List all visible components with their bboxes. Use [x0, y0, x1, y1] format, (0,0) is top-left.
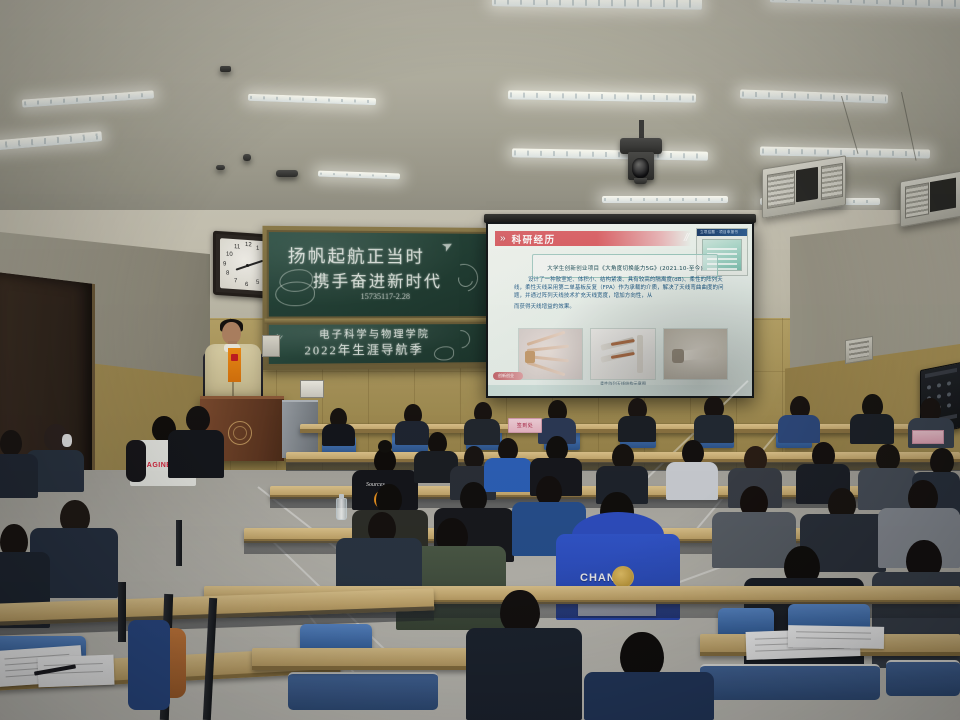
projector-base: [634, 178, 647, 184]
figure-antenna-structure-diagram: [590, 328, 655, 380]
ceiling-sensor: [243, 154, 251, 161]
projection-screen: » 科研经历 // 立项结题 · 项目申报书 大学生创新创业项目《大角度切换能力…: [486, 222, 754, 398]
slide-paragraph: 而获得天线增益的效果。: [514, 303, 730, 311]
ceiling-light-fixture: [508, 90, 696, 102]
chevron-right-icon: »: [500, 234, 503, 244]
clock-center-pin: [246, 264, 249, 267]
ceiling-light-fixture: [22, 90, 154, 107]
slide-section-title: 科研经历: [512, 232, 556, 246]
blackboard: 扬帆起航正当时 携手奋进新时代 15735117-2.28 ➤ 电子科学与物理学…: [262, 226, 496, 370]
ceiling-light-fixture: [318, 171, 400, 180]
slide-figure-row: [518, 328, 728, 380]
blackboard-lower-panel: 电子科学与物理学院 2022年生涯导航季 ///: [267, 322, 492, 366]
blackboard-slogan-line2: 携手奋进新时代: [313, 267, 442, 292]
chalk-wave-decoration: [275, 282, 315, 307]
slide-header-banner: » 科研经历: [495, 231, 691, 246]
chalk-arrow-decoration: ➤: [439, 236, 458, 256]
clock-numeral: 8: [226, 271, 229, 277]
ceiling-light-fixture: [0, 131, 102, 151]
seat-cushion: [288, 672, 438, 710]
clock-numeral: 1: [256, 246, 259, 252]
slide-footer-bar: [488, 385, 752, 396]
ceiling-sensor: [276, 170, 298, 177]
desk-surface: [252, 648, 472, 670]
chalk-swirl-decoration: [448, 326, 473, 351]
desk-sign: 签到处: [508, 418, 542, 433]
ceiling-light-fixture: [248, 94, 376, 105]
figure-bent-antenna-photo: [663, 328, 728, 380]
clock-numeral: 9: [223, 261, 226, 267]
seat-cushion: [700, 664, 880, 700]
clock-minute-hand: [247, 260, 263, 267]
speaker-orange-sash: [228, 348, 241, 382]
paper-sheet: [788, 625, 884, 649]
blackboard-event-name: 2022年生涯导航季: [305, 340, 424, 358]
chalk-swirl-decoration: [445, 259, 483, 297]
blackboard-upper-panel: 扬帆起航正当时 携手奋进新时代 15735117-2.28 ➤: [267, 230, 492, 319]
clock-numeral: 7: [234, 278, 237, 284]
chalk-wave-decoration: [279, 269, 313, 292]
right-wall-sign: [912, 430, 944, 444]
thumbnail-label: 立项结题 · 项目申报书: [700, 230, 738, 235]
seat-cushion: [886, 660, 960, 696]
clock-numeral: 12: [245, 242, 252, 248]
ceiling-light-fixture: [602, 196, 728, 203]
blackboard-department-name: 电子科学与物理学院: [319, 325, 430, 341]
blackboard-slogan-line1: 扬帆起航正当时: [288, 241, 425, 267]
desk-sign-label: 签到处: [509, 422, 541, 429]
water-bottle: [336, 498, 347, 520]
slide-badge-label: 创新创业: [498, 373, 514, 379]
wall-notice: [262, 335, 280, 357]
ceiling-sensor: [216, 165, 225, 170]
slide-project-title-box: 大学生创新创业项目《大角度切换能力5G》(2021.10-至今): [532, 254, 718, 278]
clock-numeral: 10: [226, 252, 233, 258]
ceiling-light-fixture: [512, 148, 708, 160]
ceiling-light-fixture: [740, 89, 888, 103]
wall-vent: [845, 336, 873, 364]
blackboard-phone-number: 15735117-2.28: [361, 292, 410, 301]
chalk-swirl-decoration: [455, 269, 476, 290]
clock-numeral: 5: [256, 280, 259, 286]
slide-project-title: 大学生创新创业项目《大角度切换能力5G》(2021.10-至今): [547, 266, 703, 272]
desk-leg: [118, 582, 126, 642]
desk-leg: [176, 520, 182, 566]
projector-lens-icon: [632, 158, 649, 178]
presentation-slide: » 科研经历 // 立项结题 · 项目申报书 大学生创新创业项目《大角度切换能力…: [488, 224, 752, 396]
slide-body-text: 设计了一种散室矩、体积小、结构紧凑、具有较高的隔离度(dB)、柔性的阵列天线，柔…: [514, 276, 730, 313]
slide-paragraph: 设计了一种散室矩、体积小、结构紧凑、具有较高的隔离度(dB)、柔性的阵列天线，柔…: [514, 276, 730, 300]
clock-numeral: 11: [234, 244, 240, 250]
wall-notice: [300, 380, 324, 398]
university-emblem-icon: [228, 421, 252, 445]
hoodie-badge-icon: [612, 566, 634, 588]
ceiling-light-fixture: [770, 0, 960, 10]
clock-numeral: 6: [245, 282, 248, 288]
chalk-leaf-decoration: [434, 346, 454, 360]
slide-corner-badge: 创新创业: [493, 372, 523, 380]
ceiling-light-fixture: [492, 0, 702, 10]
ceiling-sensor: [220, 66, 231, 72]
figure-flexible-antenna-photo: [518, 328, 583, 380]
lecture-hall-photo: 12 1 2 3 4 5 6 7 8 9 10 11 扬帆起航正当时 携手奋进新…: [0, 0, 960, 720]
